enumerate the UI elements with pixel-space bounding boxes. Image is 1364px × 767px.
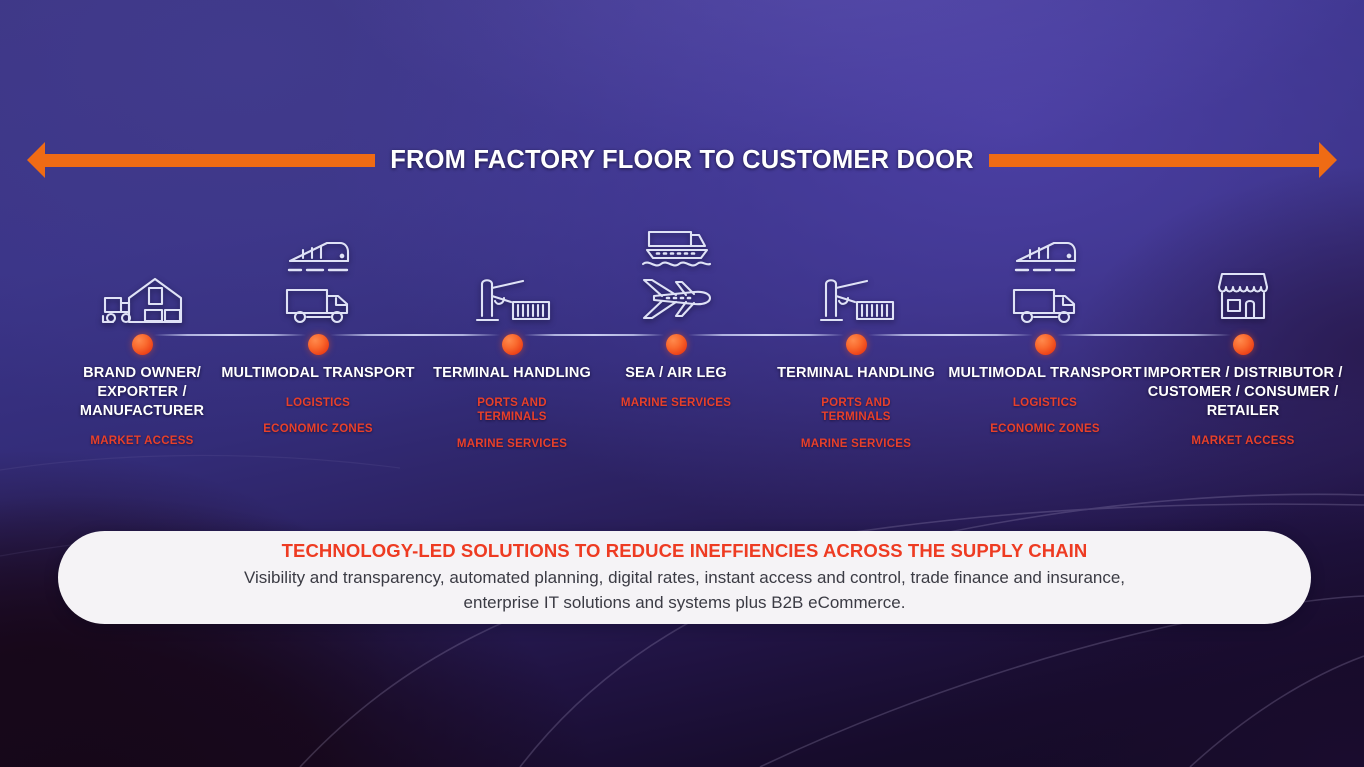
chain-node-title: MULTIMODAL TRANSPORT bbox=[948, 364, 1141, 383]
banner-body: Visibility and transparency, automated p… bbox=[244, 566, 1125, 615]
headline-banner: FROM FACTORY FLOOR TO CUSTOMER DOOR bbox=[0, 142, 1364, 178]
chain-node-title: TERMINAL HANDLING bbox=[433, 364, 591, 383]
chain-node-dot bbox=[1035, 334, 1056, 355]
supply-chain-flow: BRAND OWNER/ EXPORTER / MANUFACTURERMARK… bbox=[0, 196, 1364, 516]
warehouse-forklift-icon bbox=[99, 272, 185, 326]
chain-node-tags: MARKET ACCESS bbox=[90, 434, 193, 448]
chain-node-tag: PORTS AND TERMINALS bbox=[477, 396, 547, 425]
chain-node-tags: LOGISTICSECONOMIC ZONES bbox=[263, 396, 373, 437]
chain-node-title: MULTIMODAL TRANSPORT bbox=[221, 364, 414, 383]
chain-node-title: IMPORTER / DISTRIBUTOR / CUSTOMER / CONS… bbox=[1143, 364, 1343, 421]
chain-node-tag: MARINE SERVICES bbox=[801, 437, 911, 451]
chain-node-tags: LOGISTICSECONOMIC ZONES bbox=[990, 396, 1100, 437]
chain-node-dot bbox=[308, 334, 329, 355]
chain-node-dot bbox=[846, 334, 867, 355]
airplane-icon bbox=[636, 274, 716, 326]
chain-node-tag: MARINE SERVICES bbox=[621, 396, 731, 410]
chain-node-1[interactable]: BRAND OWNER/ EXPORTER / MANUFACTURERMARK… bbox=[42, 196, 242, 448]
chain-node-tags: PORTS AND TERMINALSMARINE SERVICES bbox=[801, 396, 911, 451]
train-icon bbox=[285, 238, 351, 278]
chain-node-7[interactable]: IMPORTER / DISTRIBUTOR / CUSTOMER / CONS… bbox=[1143, 196, 1343, 448]
chain-node-dot bbox=[502, 334, 523, 355]
chain-node-tag: PORTS AND TERMINALS bbox=[821, 396, 891, 425]
chain-node-tag: ECONOMIC ZONES bbox=[263, 422, 373, 436]
solutions-banner: TECHNOLOGY-LED SOLUTIONS TO REDUCE INEFF… bbox=[58, 531, 1311, 624]
chain-node-title: SEA / AIR LEG bbox=[625, 364, 727, 383]
chain-node-tag: ECONOMIC ZONES bbox=[990, 422, 1100, 436]
chain-node-2[interactable]: MULTIMODAL TRANSPORTLOGISTICSECONOMIC ZO… bbox=[218, 196, 418, 437]
chain-node-icons bbox=[756, 196, 956, 328]
chain-node-tag: MARKET ACCESS bbox=[1191, 434, 1294, 448]
chain-node-icons bbox=[1143, 196, 1343, 328]
chain-node-icons bbox=[576, 196, 776, 328]
chain-node-icons bbox=[42, 196, 242, 328]
chain-node-dot bbox=[666, 334, 687, 355]
port-crane-container-icon bbox=[471, 276, 553, 326]
chain-node-tags: PORTS AND TERMINALSMARINE SERVICES bbox=[457, 396, 567, 451]
chain-node-icons bbox=[218, 196, 418, 328]
storefront-icon bbox=[1212, 268, 1274, 326]
port-crane-container-icon bbox=[815, 276, 897, 326]
page-title: FROM FACTORY FLOOR TO CUSTOMER DOOR bbox=[375, 146, 989, 175]
chain-node-4[interactable]: SEA / AIR LEGMARINE SERVICES bbox=[576, 196, 776, 410]
chain-node-tags: MARKET ACCESS bbox=[1191, 434, 1294, 448]
chain-node-6[interactable]: MULTIMODAL TRANSPORTLOGISTICSECONOMIC ZO… bbox=[945, 196, 1145, 437]
chain-node-5[interactable]: TERMINAL HANDLINGPORTS AND TERMINALSMARI… bbox=[756, 196, 956, 451]
chain-node-tag: LOGISTICS bbox=[1013, 396, 1077, 410]
chain-node-dot bbox=[1233, 334, 1254, 355]
truck-icon bbox=[1010, 282, 1080, 326]
chain-node-title: TERMINAL HANDLING bbox=[777, 364, 935, 383]
chain-node-tag: LOGISTICS bbox=[286, 396, 350, 410]
train-icon bbox=[1012, 238, 1078, 278]
chain-node-title: BRAND OWNER/ EXPORTER / MANUFACTURER bbox=[42, 364, 242, 421]
chain-node-dot bbox=[132, 334, 153, 355]
arrow-left-icon bbox=[27, 142, 375, 178]
ship-icon bbox=[639, 224, 713, 270]
chain-node-tag: MARINE SERVICES bbox=[457, 437, 567, 451]
banner-title: TECHNOLOGY-LED SOLUTIONS TO REDUCE INEFF… bbox=[282, 540, 1088, 562]
chain-node-tag: MARKET ACCESS bbox=[90, 434, 193, 448]
chain-node-icons bbox=[945, 196, 1145, 328]
arrow-right-icon bbox=[989, 142, 1337, 178]
truck-icon bbox=[283, 282, 353, 326]
chain-node-tags: MARINE SERVICES bbox=[621, 396, 731, 410]
